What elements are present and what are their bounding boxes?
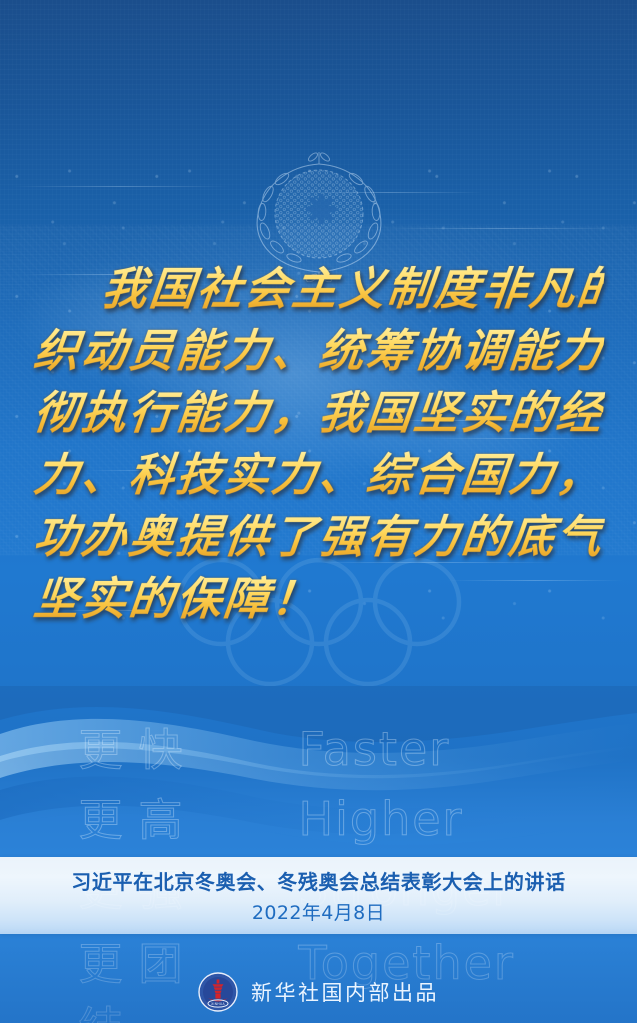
quote-line: 织动员能力、统筹协调能力、贯: [31, 320, 607, 382]
stadium-crowd-texture: [0, 225, 637, 555]
svg-text:XINHUA: XINHUA: [211, 1002, 225, 1006]
quote-line: 力、科技实力、综合国力，为成: [31, 444, 607, 506]
stadium-texture-top: [0, 0, 637, 300]
poster-canvas: 我国社会主义制度非凡的组 织动员能力、统筹协调能力、贯 彻执行能力，我国坚实的经…: [0, 0, 637, 1023]
footer-credit: XINHUA 新华社国内部出品: [0, 972, 637, 1012]
quote-line: 彻执行能力，我国坚实的经济实: [31, 382, 607, 444]
motto-cn: 更快: [79, 714, 247, 778]
olympic-motto-watermark: 更快 Faster 更高 Higher 更强 Stronger 更团结 Toge…: [0, 700, 637, 1000]
wave-ribbon-band: [0, 686, 637, 876]
caption-title: 习近平在北京冬奥会、冬残奥会总结表彰大会上的讲话: [71, 866, 565, 895]
caption-date: 2022年4月8日: [252, 898, 385, 925]
quote-line: 坚实的保障！: [31, 568, 607, 630]
motto-en: Higher: [299, 792, 559, 846]
motto-en: Faster: [299, 722, 559, 776]
footer-text: 新华社国内部出品: [251, 977, 439, 1007]
snowflake-laurel-emblem: [230, 150, 408, 282]
crowd-speckle-texture: [0, 150, 637, 630]
quote-block: 我国社会主义制度非凡的组 织动员能力、统筹协调能力、贯 彻执行能力，我国坚实的经…: [0, 258, 637, 630]
quote-line: 功办奥提供了强有力的底气和最: [31, 506, 607, 568]
motto-row: 更高 Higher: [0, 784, 637, 848]
motto-cn: 更高: [79, 784, 247, 848]
olympic-rings-watermark: [169, 556, 469, 686]
quote-line: 我国社会主义制度非凡的组: [31, 258, 607, 320]
caption-bar: 习近平在北京冬奥会、冬残奥会总结表彰大会上的讲话 2022年4月8日: [0, 857, 637, 934]
xinhua-news-agency-logo: XINHUA: [198, 972, 238, 1012]
stadium-light-streaks: [0, 170, 637, 690]
motto-row: 更快 Faster: [0, 714, 637, 778]
